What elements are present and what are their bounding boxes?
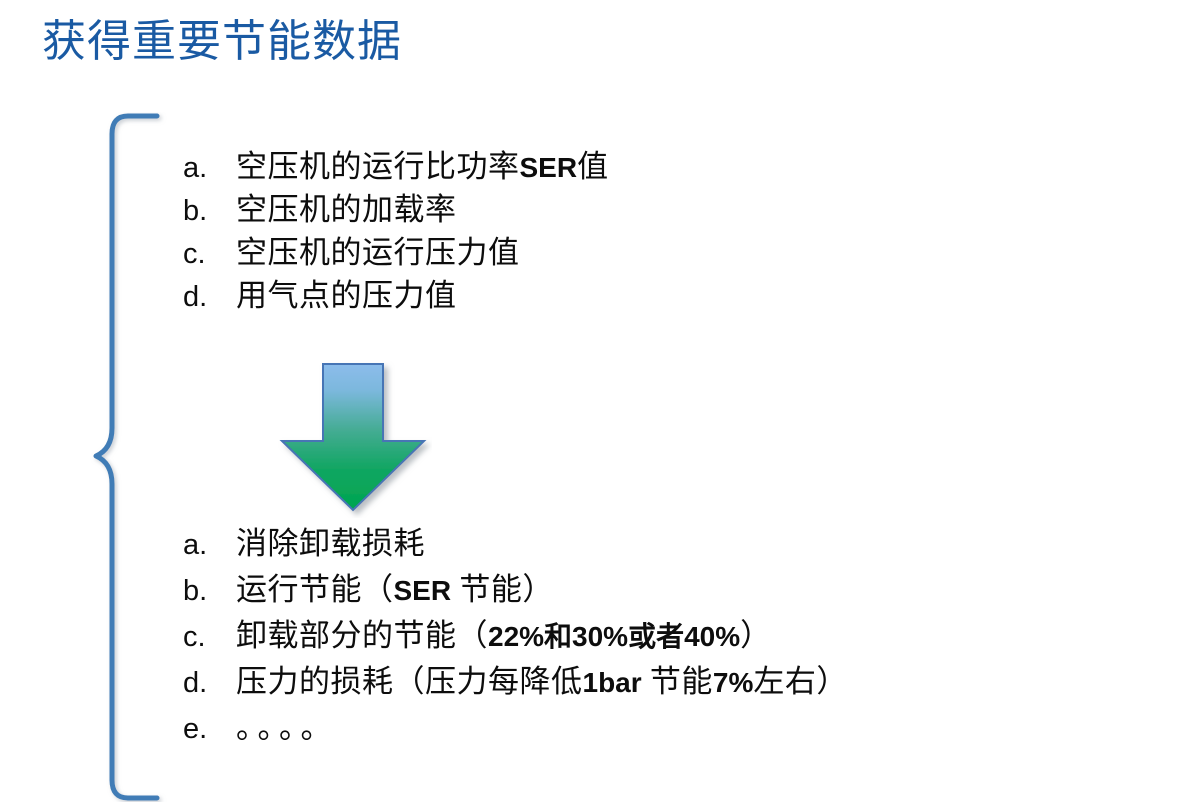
list-item-label: 空压机的运行压力值 <box>236 236 520 270</box>
latin-run: SER <box>394 575 452 606</box>
list-item: a. 空压机的运行比功率SER值 <box>183 150 609 193</box>
brace-path <box>96 116 157 798</box>
list-marker: a. <box>183 528 236 562</box>
latin-run: 22%和30%或者40% <box>488 621 740 652</box>
list-marker: b. <box>183 574 236 608</box>
list-item: e. 。。。。 <box>183 711 848 757</box>
list-marker: b. <box>183 194 236 228</box>
list-marker: d. <box>183 280 236 314</box>
slide-canvas: 获得重要节能数据 a. 空压机的运行比功率SER值 b. 空压机的加载率 c. … <box>0 0 1200 806</box>
left-curly-brace-icon <box>58 112 178 802</box>
latin-run: 1bar <box>583 667 642 698</box>
list-marker: d. <box>183 666 236 700</box>
list-item: d. 用气点的压力值 <box>183 279 609 322</box>
list-bottom: a. 消除卸载损耗 b. 运行节能（SER 节能） c. 卸载部分的节能（22%… <box>183 527 848 757</box>
down-arrow-icon <box>278 360 432 518</box>
list-item: b. 运行节能（SER 节能） <box>183 573 848 619</box>
latin-run: SER <box>520 152 578 183</box>
list-item: c. 空压机的运行压力值 <box>183 236 609 279</box>
list-marker: e. <box>183 712 236 746</box>
page-title: 获得重要节能数据 <box>42 14 402 70</box>
list-marker: c. <box>183 620 236 654</box>
list-marker: c. <box>183 237 236 271</box>
list-item-label: 压力的损耗（压力每降低1bar 节能7%左右） <box>236 665 848 700</box>
list-marker: a. <box>183 151 236 185</box>
list-item: a. 消除卸载损耗 <box>183 527 848 573</box>
latin-run-2: 7% <box>713 667 753 698</box>
list-item-label: 空压机的运行比功率SER值 <box>236 150 609 185</box>
list-item: d. 压力的损耗（压力每降低1bar 节能7%左右） <box>183 665 848 711</box>
list-item-label: 运行节能（SER 节能） <box>236 573 554 608</box>
list-top: a. 空压机的运行比功率SER值 b. 空压机的加载率 c. 空压机的运行压力值… <box>183 150 609 322</box>
list-item-label: 消除卸载损耗 <box>236 527 425 561</box>
list-item: c. 卸载部分的节能（22%和30%或者40%） <box>183 619 848 665</box>
list-item: b. 空压机的加载率 <box>183 193 609 236</box>
arrow-shape <box>282 364 424 510</box>
list-item-label: 。。。。 <box>236 711 338 745</box>
list-item-label: 用气点的压力值 <box>236 279 457 313</box>
list-item-label: 空压机的加载率 <box>236 193 457 227</box>
list-item-label: 卸载部分的节能（22%和30%或者40%） <box>236 619 772 654</box>
